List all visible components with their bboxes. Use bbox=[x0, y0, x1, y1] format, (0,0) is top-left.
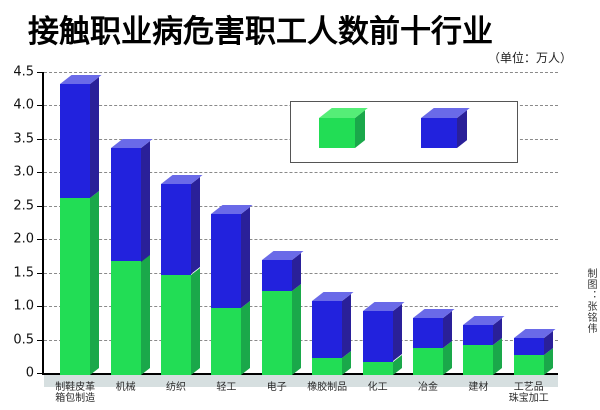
legend-cube-blue[interactable] bbox=[421, 118, 457, 148]
legend-cube-green[interactable] bbox=[319, 118, 355, 148]
bar-segment-green-side bbox=[241, 301, 250, 375]
x-axis-label-line: 箱包制造 bbox=[44, 393, 106, 404]
bar-column[interactable] bbox=[161, 184, 191, 375]
x-axis-label-line: 珠宝加工 bbox=[498, 393, 560, 404]
y-axis-tick-label: 0.5 bbox=[13, 332, 34, 347]
bar-segment-blue bbox=[262, 260, 292, 291]
bar-segment-blue-front bbox=[514, 338, 544, 355]
y-tick-mark bbox=[37, 72, 42, 73]
bar-segment-blue-front bbox=[413, 318, 443, 348]
bar-segment-blue-side bbox=[393, 304, 402, 361]
bar-segment-blue-front bbox=[111, 148, 141, 262]
bar-segment-green bbox=[211, 308, 241, 375]
y-tick-mark bbox=[37, 206, 42, 207]
bar-segment-blue-front bbox=[262, 260, 292, 291]
bar-segment-green bbox=[413, 348, 443, 375]
x-axis-label-line: 工艺品 bbox=[498, 382, 560, 393]
bar-column[interactable] bbox=[413, 318, 443, 375]
bar-segment-green-front bbox=[463, 345, 493, 375]
y-axis-tick-label: 3.5 bbox=[13, 131, 34, 146]
bar-segment-blue-front bbox=[312, 301, 342, 358]
bar-column[interactable] bbox=[60, 84, 90, 375]
bar-segment-green bbox=[60, 198, 90, 375]
y-axis-tick-label: 4.5 bbox=[13, 65, 34, 80]
bar-column[interactable] bbox=[363, 311, 393, 375]
bar-segment-green-front bbox=[413, 348, 443, 375]
bar-segment-blue-front bbox=[60, 84, 90, 198]
bar-column[interactable] bbox=[111, 148, 141, 375]
y-tick-mark bbox=[37, 373, 42, 374]
bar-segment-green-side bbox=[191, 268, 200, 375]
y-tick-mark bbox=[37, 172, 42, 173]
bar-segment-blue-front bbox=[463, 325, 493, 345]
bar-column[interactable] bbox=[514, 338, 544, 375]
y-axis-tick-label: 1.0 bbox=[13, 299, 34, 314]
bar-segment-green bbox=[312, 358, 342, 375]
bar-segment-blue bbox=[312, 301, 342, 358]
bar-segment-green-front bbox=[111, 261, 141, 375]
bar-segment-blue-side bbox=[90, 77, 99, 198]
y-tick-mark bbox=[37, 139, 42, 140]
gridline bbox=[44, 72, 558, 73]
bar-column[interactable] bbox=[312, 301, 342, 375]
y-axis-tick-label: 4.0 bbox=[13, 98, 34, 113]
bar-segment-green-front bbox=[363, 362, 393, 375]
bar-segment-green-front bbox=[312, 358, 342, 375]
y-axis-tick-label: 1.5 bbox=[13, 265, 34, 280]
bar-segment-blue-front bbox=[161, 184, 191, 274]
y-axis-tick-label: 3.0 bbox=[13, 165, 34, 180]
credit-line: 制图：张铭伟 bbox=[584, 268, 596, 334]
bar-segment-green bbox=[363, 362, 393, 375]
chart-unit-subtitle: （单位：万人） bbox=[488, 49, 572, 66]
bar-column[interactable] bbox=[211, 214, 241, 375]
bar-segment-green-front bbox=[161, 275, 191, 375]
y-tick-mark bbox=[37, 340, 42, 341]
y-axis-tick-label: 0 bbox=[26, 366, 34, 381]
legend-cube-green-front bbox=[319, 118, 355, 148]
bar-segment-green bbox=[514, 355, 544, 375]
bar-segment-green bbox=[262, 291, 292, 375]
bar-segment-blue-front bbox=[363, 311, 393, 361]
y-tick-mark bbox=[37, 239, 42, 240]
bar-segment-green-front bbox=[262, 291, 292, 375]
y-axis-tick-label: 2.5 bbox=[13, 198, 34, 213]
bar-segment-blue bbox=[111, 148, 141, 262]
page-title: 接触职业病危害职工人数前十行业 bbox=[28, 6, 493, 51]
bar-segment-blue bbox=[514, 338, 544, 355]
bar-segment-blue-side bbox=[241, 207, 250, 308]
y-tick-mark bbox=[37, 306, 42, 307]
bar-segment-blue bbox=[60, 84, 90, 198]
bar-segment-green bbox=[463, 345, 493, 375]
y-tick-mark bbox=[37, 273, 42, 274]
bar-segment-green-side bbox=[292, 284, 301, 375]
bar-segment-blue-side bbox=[191, 177, 200, 274]
bar-segment-green-front bbox=[60, 198, 90, 375]
bar-segment-blue-side bbox=[141, 141, 150, 262]
x-axis-label: 工艺品珠宝加工 bbox=[498, 382, 560, 404]
chart-legend bbox=[290, 101, 518, 163]
y-tick-mark bbox=[37, 105, 42, 106]
bar-segment-green-side bbox=[141, 254, 150, 375]
title-block: 接触职业病危害职工人数前十行业 （单位：万人） bbox=[0, 0, 600, 70]
bar-segment-blue bbox=[161, 184, 191, 274]
bar-segment-green bbox=[111, 261, 141, 375]
bar-segment-blue-front bbox=[211, 214, 241, 308]
y-axis-tick-label: 2.0 bbox=[13, 232, 34, 247]
bar-segment-blue-side bbox=[342, 294, 351, 358]
bar-segment-blue bbox=[211, 214, 241, 308]
bar-segment-green-front bbox=[514, 355, 544, 375]
bar-segment-green-side bbox=[90, 191, 99, 375]
bar-segment-green-front bbox=[211, 308, 241, 375]
bar-segment-blue bbox=[363, 311, 393, 361]
y-axis-line bbox=[42, 72, 44, 375]
bar-segment-blue bbox=[413, 318, 443, 348]
bar-segment-green bbox=[161, 275, 191, 375]
bar-column[interactable] bbox=[463, 325, 493, 375]
legend-cube-blue-front bbox=[421, 118, 457, 148]
bar-column[interactable] bbox=[262, 260, 292, 375]
bar-segment-blue bbox=[463, 325, 493, 345]
